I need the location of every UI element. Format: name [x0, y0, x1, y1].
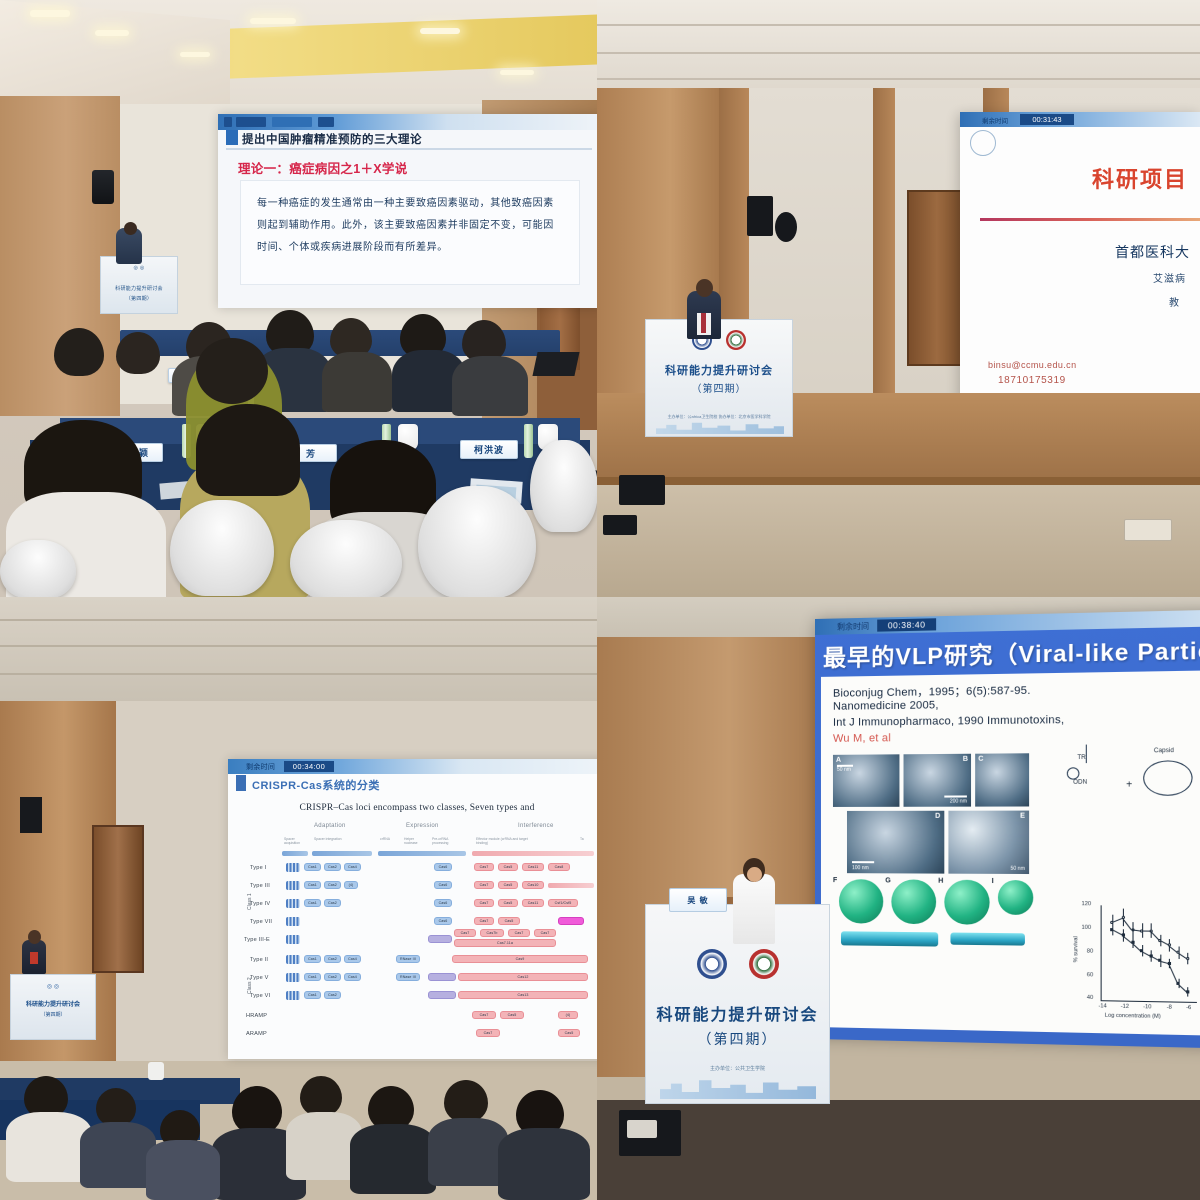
audience-head — [232, 1086, 282, 1134]
audience-head — [196, 338, 268, 404]
speaker-face — [747, 867, 762, 882]
gene-box: Cas1 — [304, 899, 321, 907]
gene-box: Cas11 — [522, 863, 544, 871]
panel-speaker-podium-stage: 00:31:43 剩余时间 科研项目 首都医科大 艾滋病 教 binsu@ccm… — [597, 0, 1200, 597]
gene-box: RNase III — [396, 955, 420, 963]
cas1-cas2-block — [286, 881, 300, 890]
diagram-label-plus: + — [1126, 779, 1132, 790]
ceiling-lamp — [500, 70, 534, 75]
slide-timer-value: 00:34:00 — [284, 761, 334, 772]
gene-box: Cas4 — [344, 955, 361, 963]
speaker-head — [124, 222, 137, 235]
diagram-tr-line — [1086, 745, 1087, 764]
ceiling-line — [597, 78, 1200, 80]
chart-y-axis-label: % survival — [1073, 936, 1079, 962]
sub-header: Spacer acquisition — [284, 837, 310, 846]
slide-body-line: 则起到辅助作用。此外，该主要致癌因素并非固定不变，可能因 — [257, 221, 554, 231]
chair — [418, 486, 536, 597]
gene-box: Cas8 — [548, 863, 570, 871]
ceiling-line — [0, 645, 597, 647]
nameplate: 吴 敏 — [669, 888, 727, 912]
slide-timer-label: 剩余时间 — [837, 621, 869, 633]
sub-header: Spacer integration — [314, 837, 344, 841]
tea-cup — [148, 1062, 164, 1080]
gene-box: Cas2 — [324, 881, 341, 889]
slide-body-line: 时间、个体或疾病进展阶段而有所差异。 — [257, 243, 448, 253]
emblem-icon-university — [697, 949, 727, 979]
audience-head — [300, 1076, 342, 1116]
gene-box: Cas1 — [304, 863, 321, 871]
citation-author: Wu M, et al — [833, 732, 891, 745]
chart-data-point — [1186, 957, 1189, 960]
slide-timer-label: 剩余时间 — [246, 762, 275, 772]
chart-x-tick: -14 — [1098, 1003, 1106, 1009]
podium-skyline-graphic — [660, 1077, 816, 1099]
chart-y-tick: 60 — [1087, 972, 1093, 978]
panel-lecture-hall-audience: 提出中国肿瘤精准预防的三大理论 理论一：癌症病因之1＋X学说 每一种癌症的发生通… — [0, 0, 597, 597]
podium-title-line1: 科研能力提升研讨会 — [11, 999, 95, 1008]
gene-box: Csf1/Csf5 — [548, 899, 578, 907]
speaker-body — [733, 874, 775, 944]
gene-box: (4) — [344, 881, 358, 889]
podium-footer: 主办单位：公africa卫生院校 协办单位：北京市医学科学院 — [646, 414, 792, 420]
row-label: Type II — [250, 957, 268, 963]
equipment-case — [603, 515, 637, 535]
floor-monitor — [619, 475, 665, 505]
photo-collage-grid: 提出中国肿瘤精准预防的三大理论 理论一：癌症病因之1＋X学说 每一种癌症的发生通… — [0, 0, 1200, 1200]
sub-header: Helper nuclease — [404, 837, 428, 846]
loudspeaker — [747, 196, 773, 236]
vlp-rod-render — [950, 933, 1024, 946]
chart-y-tick: 100 — [1082, 925, 1092, 931]
speaker-lanyard — [30, 952, 38, 964]
citation-line: Int J Immunopharmaco, 1990 Immunotoxins, — [833, 714, 1064, 729]
sub-header: Effector module (crRNA and target bindin… — [476, 837, 538, 846]
ceiling — [597, 0, 1200, 96]
slide-header-title: 提出中国肿瘤精准预防的三大理论 — [242, 131, 422, 147]
row-label: Type V — [250, 975, 269, 981]
gene-box: Cas4 — [344, 973, 361, 981]
survival-dose-response-chart: 120 100 80 60 40 -14 -12 -10 -8 -6 % sur… — [1077, 899, 1197, 1023]
gene-box — [428, 935, 452, 943]
loudspeaker — [92, 170, 114, 204]
row-label: Type IV — [250, 901, 270, 907]
chart-x-tick: -10 — [1143, 1004, 1151, 1010]
gene-box — [428, 991, 456, 999]
gene-box: Cas5 — [498, 863, 518, 871]
slide-subtitle-topic: 艾滋病 — [1153, 270, 1186, 285]
diagram-label-odn: ODN — [1073, 780, 1087, 786]
cas1-cas2-block — [286, 973, 300, 982]
slide-title: 科研项目 — [1092, 162, 1188, 194]
audience-shoulders — [322, 352, 392, 412]
loudspeaker — [20, 797, 42, 833]
ceiling-lamp — [95, 30, 129, 36]
chair — [0, 540, 76, 597]
speaker-head — [696, 279, 713, 297]
water-bottle — [524, 424, 533, 458]
cas1-cas2-block — [286, 955, 300, 964]
slide-title-accent-bar — [236, 775, 246, 791]
audience-body — [146, 1140, 220, 1200]
chart-series-container — [1077, 899, 1197, 900]
micrograph-e: E 50 nm — [948, 811, 1029, 874]
gene-box: RNase III — [396, 973, 420, 981]
micrograph-b: B 200 nm — [904, 754, 972, 807]
gene-box: Cas6 — [434, 881, 452, 889]
gene-box: Cas7 — [474, 899, 494, 907]
row-label: Type VII — [250, 919, 272, 925]
header-band — [472, 851, 594, 856]
podium-sign: ◎ ◎ 科研能力提升研讨会 （第四期） — [10, 974, 96, 1040]
chart-x-tick: -12 — [1121, 1004, 1129, 1010]
gene-box: Cas5 — [498, 881, 518, 889]
gene-box: Cas7b — [480, 929, 504, 937]
slide-theory-heading: 理论一：癌症病因之1＋X学说 — [238, 158, 408, 177]
header-band — [378, 851, 466, 856]
gene-box: Cas2 — [324, 991, 341, 999]
slide-title-rule — [980, 218, 1200, 221]
ceiling-lamp — [250, 18, 296, 24]
row-label: Type III-E — [244, 937, 270, 943]
podium-title-line2: （第四期） — [646, 1029, 829, 1049]
gene-box: Cas6 — [434, 917, 452, 925]
ceiling-line — [597, 24, 1200, 26]
slide-title-rule — [226, 148, 592, 150]
column-header-interference: Interference — [518, 823, 554, 829]
micrograph-c: C — [975, 753, 1029, 806]
audience-head — [116, 332, 160, 374]
cas1-cas2-block — [286, 991, 300, 1000]
projection-screen: 剩余时间 00:38:40 最早的VLP研究（Viral-like Partic… — [815, 610, 1200, 1048]
podium-title-line1: 科研能力提升研讨会 — [101, 285, 177, 292]
ceiling — [0, 597, 597, 707]
gene-box: Cas12 — [458, 973, 588, 981]
chart-x-axis-label: Log concentration (M) — [1105, 1013, 1161, 1020]
gene-box: (4) — [558, 1011, 578, 1019]
chart-y-tick: 80 — [1087, 948, 1093, 954]
slide-timer-value: 00:38:40 — [877, 618, 936, 631]
vlp-rod-render — [841, 931, 938, 946]
gene-box: Cas5 — [498, 917, 520, 925]
podium-emblems — [646, 949, 829, 979]
gene-box: Cas7 — [474, 881, 494, 889]
slide-timer-label: 剩余时间 — [982, 115, 1008, 125]
gene-box — [428, 973, 456, 981]
audience-body — [350, 1124, 436, 1194]
chart-y-axis — [1101, 905, 1102, 1000]
chart-x-tick: -8 — [1167, 1005, 1172, 1011]
chair — [530, 440, 597, 532]
emblem-icon-academy — [749, 949, 779, 979]
gene-box: Cas5 — [498, 899, 518, 907]
institution-logo-icon — [970, 130, 996, 156]
chart-y-tick: 40 — [1087, 995, 1093, 1001]
audience-hair — [196, 404, 300, 496]
audience-shoulders — [452, 356, 528, 416]
slide-content-area: Bioconjug Chem，1995；6(5):587-95. Nanomed… — [821, 670, 1200, 1035]
diagram-label-capsid: Capsid — [1154, 748, 1174, 754]
micrograph-d: D 100 nm — [847, 811, 944, 874]
slide-subtitle: CRISPR–Cas loci encompass two classes, S… — [228, 803, 597, 813]
vlp-render-i — [998, 880, 1033, 915]
vlp-render-f — [839, 879, 883, 924]
slide-email: binsu@ccmu.edu.cn — [988, 360, 1076, 370]
podium-title-line2: （第四期） — [646, 380, 792, 395]
chair — [170, 500, 274, 596]
citation-line: Nanomedicine 2005, — [833, 699, 939, 713]
chart-x-axis — [1101, 1000, 1197, 1003]
gene-box: Cas9 — [452, 955, 588, 963]
gene-box: Cas2 — [324, 863, 341, 871]
audience-head — [96, 1088, 136, 1126]
gene-box: Cas7 — [508, 929, 530, 937]
podium-title-line1: 科研能力提升研讨会 — [646, 1001, 829, 1025]
diagram-label-tr: TR — [1077, 755, 1085, 761]
floor — [597, 485, 1200, 597]
speaker-tie — [701, 313, 706, 333]
audience-body — [428, 1118, 508, 1186]
gene-box: Cas1 — [304, 973, 321, 981]
micrograph-a: A 50 nm — [833, 754, 899, 807]
emblem-icon-academy — [726, 330, 746, 350]
projection-screen: 00:31:43 剩余时间 科研项目 首都医科大 艾滋病 教 binsu@ccm… — [960, 112, 1200, 412]
gene-box-highlight — [558, 917, 584, 925]
gene-box: Cas2 — [324, 899, 341, 907]
row-label: ARAMP — [246, 1031, 267, 1037]
column-header-expression: Expression — [406, 823, 439, 829]
slide-phone: 18710175319 — [998, 375, 1066, 386]
gene-box: Cas1 — [304, 991, 321, 999]
laptop — [532, 352, 579, 376]
ceiling-lamp — [30, 10, 70, 17]
gene-box: Cas2 — [324, 955, 341, 963]
row-tail-band — [548, 883, 594, 888]
gene-box: Cas5 — [558, 1029, 580, 1037]
audience-body — [80, 1122, 156, 1188]
chart-line-segment — [1168, 963, 1178, 984]
vlp-render-g — [891, 879, 936, 924]
podium-title-line1: 科研能力提升研讨会 — [646, 362, 792, 378]
diagram-odn-circle — [1067, 767, 1080, 779]
slide-timer-value: 00:31:43 — [1020, 114, 1074, 125]
hall-door[interactable] — [92, 825, 144, 973]
header-band — [312, 851, 372, 856]
podium-footer-left: 主办单位：公共卫生学院 — [646, 1066, 829, 1074]
cas1-cas2-block — [286, 935, 300, 944]
projection-screen: 提出中国肿瘤精准预防的三大理论 理论一：癌症病因之1＋X学说 每一种癌症的发生通… — [218, 114, 597, 308]
gene-box: Cas7 — [454, 929, 476, 937]
podium-sign: ◎ ◎ 科研能力提升研讨会 （第四期） — [100, 256, 178, 314]
column-header-adaptation: Adaptation — [314, 823, 346, 829]
gene-box: Cas4 — [344, 863, 361, 871]
citation-line: Bioconjug Chem，1995；6(5):587-95. — [833, 682, 1031, 701]
slide-timer-bar — [218, 114, 597, 130]
cas1-cas2-block — [286, 917, 300, 926]
ceiling-line — [0, 673, 597, 675]
nameplate: 柯洪波 — [460, 440, 518, 459]
sub-header: Ta — [580, 837, 594, 841]
slide-body-box: 每一种癌症的发生通常由一种主要致癌因素驱动，其他致癌因素 则起到辅助作用。此外，… — [240, 180, 580, 285]
gene-box: Cas7 — [474, 917, 494, 925]
chair — [290, 520, 402, 597]
panel-crispr-slide-hall: 剩余时间 00:34:00 CRISPR-Cas系统的分类 CRISPR–Cas… — [0, 597, 597, 1200]
row-label: HRAMP — [246, 1013, 267, 1019]
cas1-cas2-block — [286, 899, 300, 908]
slide-subtitle-role: 教 — [1169, 294, 1180, 309]
ceiling-line — [597, 52, 1200, 54]
slide-subtitle-institution: 首都医科大 — [1115, 242, 1190, 262]
sub-header: crRNA — [380, 837, 400, 841]
diagram-capsid-ellipse — [1143, 760, 1192, 796]
row-label: Type VI — [250, 993, 270, 999]
projection-screen: 剩余时间 00:34:00 CRISPR-Cas系统的分类 CRISPR–Cas… — [228, 759, 597, 1059]
ceiling-lamp — [180, 52, 210, 57]
gene-box: Cas13 — [458, 991, 588, 999]
vlp-render-h — [944, 880, 989, 925]
slide-body-line: 每一种癌症的发生通常由一种主要致癌因素驱动，其他致癌因素 — [257, 199, 554, 209]
wood-column — [873, 88, 895, 418]
gene-box: Cas1 — [304, 881, 321, 889]
slide-header-title: CRISPR-Cas系统的分类 — [252, 777, 380, 793]
panel-vlp-slide-speaker: 剩余时间 00:38:40 最早的VLP研究（Viral-like Partic… — [597, 597, 1200, 1200]
gene-box: Cas6 — [434, 863, 452, 871]
chart-data-point — [1186, 991, 1189, 994]
gene-box: Cas7.11a — [454, 939, 556, 947]
podium-skyline-graphic — [656, 420, 784, 434]
wall-outlet[interactable] — [1124, 519, 1172, 541]
ceiling-lamp — [420, 28, 460, 34]
floor — [597, 1100, 1200, 1200]
speaker-head — [28, 930, 41, 944]
podium-title-line2: （第四期） — [101, 295, 177, 302]
slide-title: 最早的VLP研究（Viral-like Particles — [823, 630, 1200, 673]
gene-box: Cas5 — [500, 1011, 524, 1019]
podium-title-line2: （第四期） — [11, 1011, 95, 1018]
chart-y-tick: 120 — [1082, 901, 1092, 907]
slide-title-accent-bar — [226, 130, 238, 145]
gene-box: Cas1 — [304, 955, 321, 963]
gene-box: Cas7 — [474, 863, 494, 871]
row-label: Type III — [250, 883, 270, 889]
power-outlet-box[interactable] — [627, 1120, 657, 1138]
gene-box: Cas10 — [522, 881, 544, 889]
cas1-cas2-block — [286, 863, 300, 872]
sub-header: Pre-crRNA processing — [432, 837, 462, 846]
gene-box: Cas2 — [324, 973, 341, 981]
audience-head — [54, 328, 104, 376]
chart-x-tick: -6 — [1186, 1005, 1191, 1011]
header-band — [282, 851, 308, 856]
audience-body — [498, 1128, 590, 1200]
gene-box: Cas11 — [522, 899, 544, 907]
gene-box: Cas6 — [434, 899, 452, 907]
audience-head — [444, 1080, 488, 1122]
ceiling-line — [0, 619, 597, 621]
gene-box: Cas7 — [472, 1011, 496, 1019]
row-label: Type I — [250, 865, 266, 871]
gene-box: Cas7 — [534, 929, 556, 937]
gene-box: Cas7 — [476, 1029, 500, 1037]
loudspeaker-cone — [775, 212, 797, 242]
